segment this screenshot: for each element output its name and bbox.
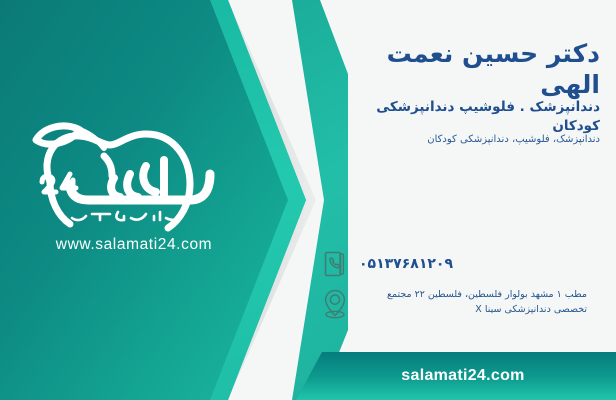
address-row[interactable]: مطب ۱ مشهد بولوار فلسطین، فلسطین ۲۲ مجتم… (320, 288, 602, 320)
doctor-name: دکتر حسین نعمت الهی (325, 38, 600, 101)
map-pin-icon (320, 288, 350, 320)
business-card: www.salamati24.com دکتر حسین نعمت الهی د… (0, 0, 616, 400)
doctor-specialty: دندانپزشک . فلوشیپ دندانپزشکی کودکان (325, 98, 600, 136)
phone-number: ۰۵۱۳۷۶۸۱۲۰۹ (359, 256, 453, 272)
footer-bar[interactable]: salamati24.com (296, 352, 616, 400)
doctor-specialty-sub: دندانپزشک، فلوشیپ، دندانپزشکی کودکان (325, 133, 600, 147)
logo-website-url: www.salamati24.com (14, 236, 254, 254)
address-text: مطب ۱ مشهد بولوار فلسطین، فلسطین ۲۲ مجتم… (359, 288, 587, 317)
footer-website-url: salamati24.com (387, 367, 524, 385)
apple-logo-icon (14, 104, 254, 234)
card-content: دکتر حسین نعمت الهی دندانپزشک . فلوشیپ د… (310, 0, 616, 400)
phonebook-icon (320, 248, 350, 280)
brand-logo: www.salamati24.com (14, 104, 254, 274)
phone-row[interactable]: ۰۵۱۳۷۶۸۱۲۰۹ (320, 248, 602, 280)
